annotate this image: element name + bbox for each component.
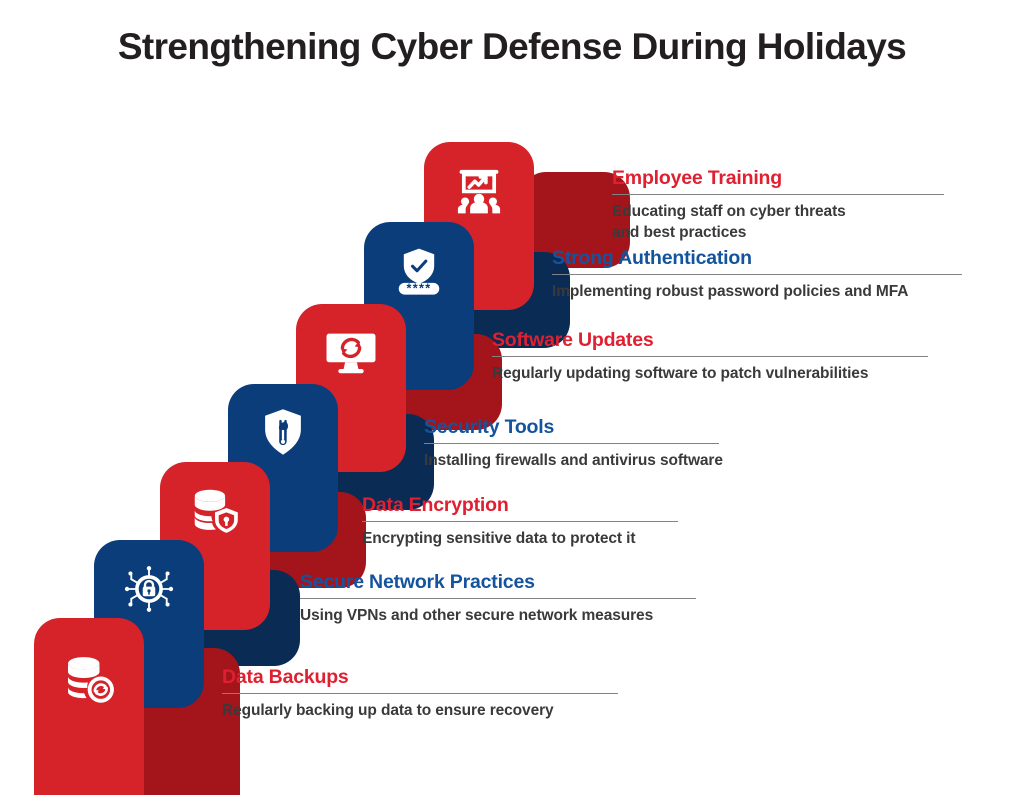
svg-text:****: **** [406,282,431,296]
step-heading: Employee Training [612,167,984,189]
step-text-block: Software Updates Regularly updating soft… [492,329,932,385]
step-text-block: Strong Authentication Implementing robus… [552,247,972,303]
step-heading: Secure Network Practices [300,571,700,593]
network-lock-icon [122,562,176,616]
step-text-block: Employee Training Educating staff on cyb… [612,167,984,243]
step-description: Educating staff on cyber threats and bes… [612,202,984,243]
step-text-block: Secure Network Practices Using VPNs and … [300,571,700,627]
shield-wrench-icon [257,406,309,458]
step-divider-rule [424,443,719,444]
step-text-block: Data Backups Regularly backing up data t… [222,666,622,722]
step-divider-rule [492,356,928,357]
step-description: Regularly updating software to patch vul… [492,364,932,384]
step-divider-rule [362,521,678,522]
step-divider-rule [552,274,962,275]
shield-password-icon: **** [392,244,446,298]
step-text-block: Data Encryption Encrypting sensitive dat… [362,494,682,550]
step-description: Using VPNs and other secure network meas… [300,606,700,626]
step-heading: Software Updates [492,329,932,351]
step-description: Encrypting sensitive data to protect it [362,529,682,549]
presentation-training-icon [452,164,506,218]
step-text-block: Security Tools Installing firewalls and … [424,416,724,472]
step-description: Regularly backing up data to ensure reco… [222,701,622,721]
step-heading: Security Tools [424,416,724,438]
step-heading: Strong Authentication [552,247,972,269]
step-divider-rule [222,693,618,694]
step-divider-rule [612,194,944,195]
monitor-refresh-icon [324,326,378,380]
infographic-canvas: Strengthening Cyber Defense During Holid… [0,0,1024,795]
step-card[interactable] [34,618,144,795]
step-divider-rule [300,598,696,599]
database-shield-lock-icon [188,484,242,538]
step-heading: Data Encryption [362,494,682,516]
step-description: Implementing robust password policies an… [552,282,972,302]
page-title: Strengthening Cyber Defense During Holid… [0,26,1024,68]
step-description: Installing firewalls and antivirus softw… [424,451,724,471]
database-sync-icon [61,652,117,708]
step-heading: Data Backups [222,666,622,688]
